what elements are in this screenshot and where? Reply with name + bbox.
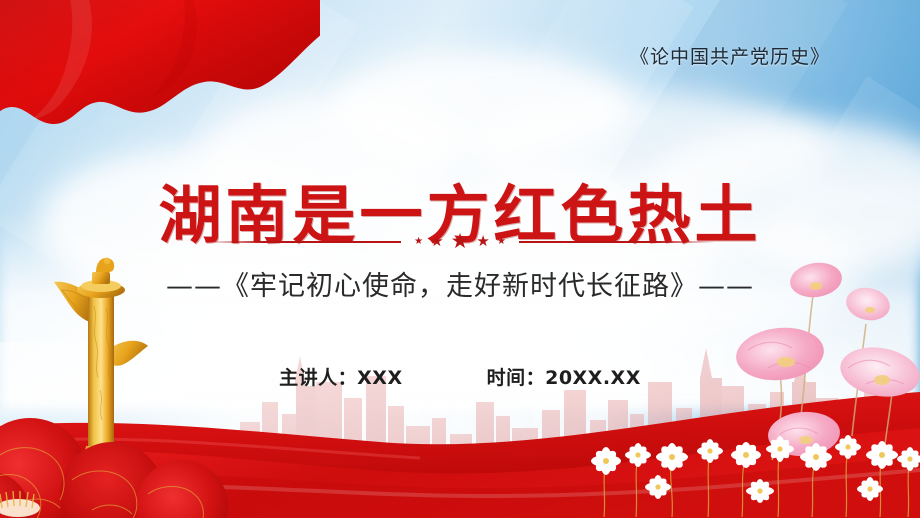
star-group: ★ ★ ★ ★ ★ (401, 231, 519, 252)
page-subtitle: ——《牢记初心使命，走好新时代长征路》—— (0, 264, 920, 303)
red-silk-ribbon (0, 368, 920, 518)
presenter-name: 主讲人：XXX (279, 363, 402, 390)
city-skyline (0, 342, 920, 472)
star-icon: ★ (451, 231, 470, 252)
star-divider: ★ ★ ★ ★ ★ (0, 231, 920, 252)
star-icon: ★ (414, 237, 423, 247)
presentation-slide: 《论中国共产党历史》 湖南是一方红色热土 ★ ★ ★ ★ ★ ——《牢记初心使命… (0, 0, 920, 518)
divider-line-right (519, 241, 715, 243)
star-icon: ★ (476, 234, 489, 249)
red-peony-flowers (0, 384, 232, 518)
presenter-info: 主讲人：XXX 时间：20XX.XX (0, 363, 920, 390)
presentation-date: 时间：20XX.XX (487, 363, 641, 390)
star-icon: ★ (430, 234, 443, 249)
star-icon: ★ (497, 237, 506, 247)
book-reference-text: 《论中国共产党历史》 (0, 42, 830, 69)
red-flag-banner (0, 0, 320, 170)
divider-line-left (205, 241, 401, 243)
white-cosmos-flowers (580, 413, 920, 518)
